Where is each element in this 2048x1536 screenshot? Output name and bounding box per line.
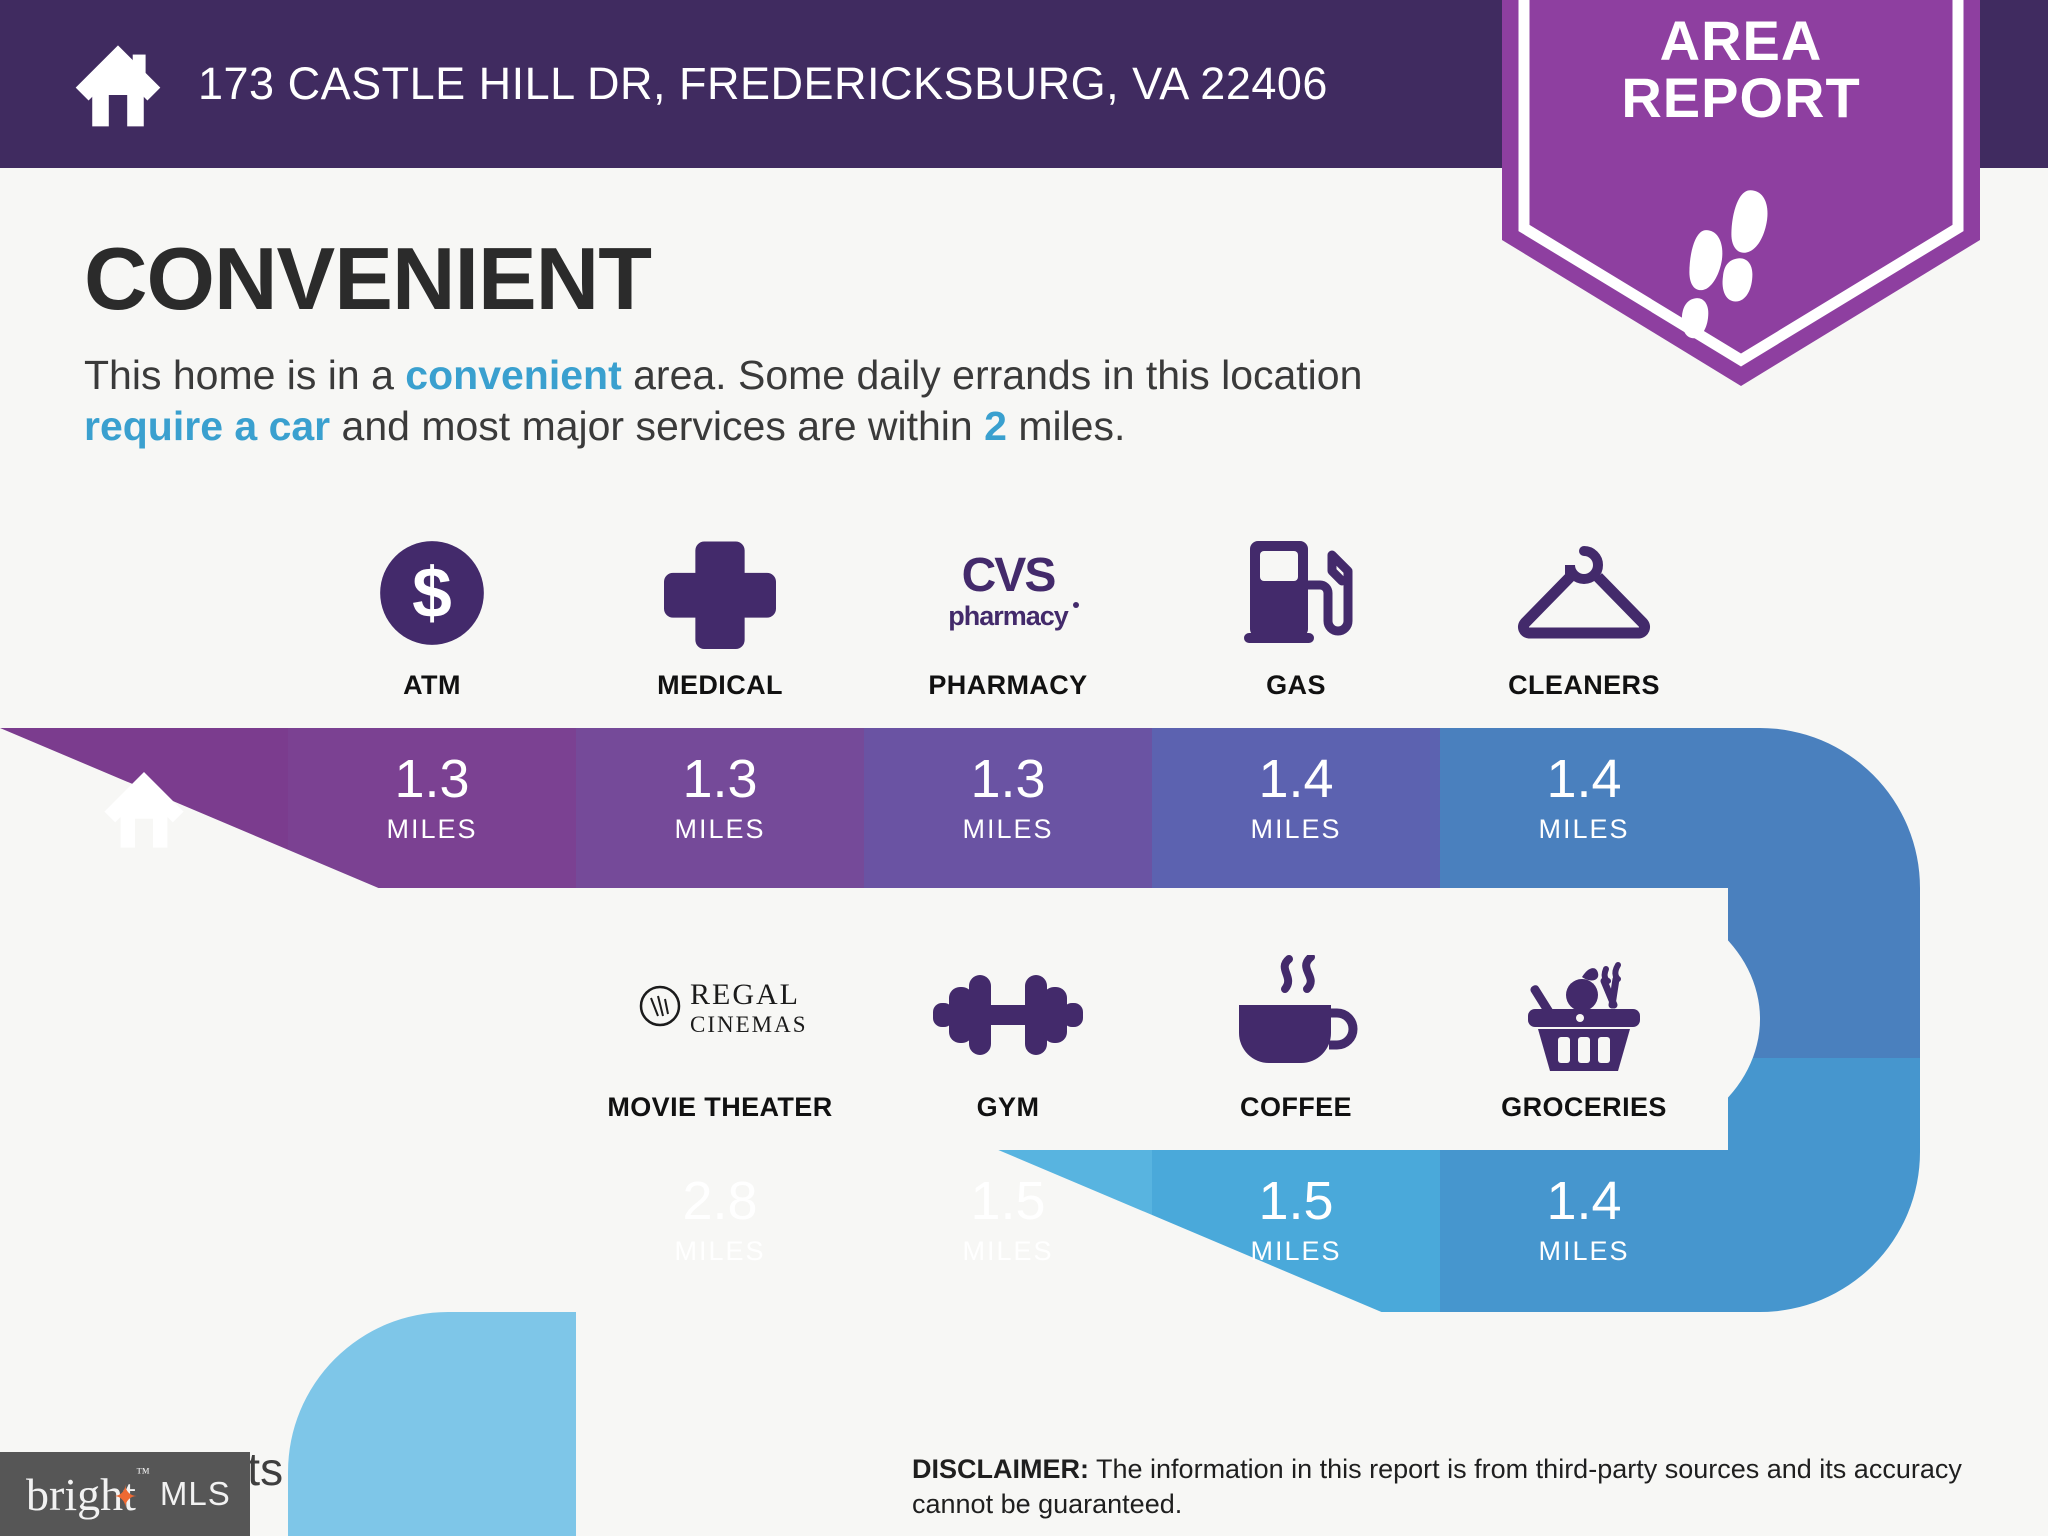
amenity-label: GAS — [1152, 670, 1440, 701]
blurb-highlight-miles: 2 — [984, 403, 1007, 449]
svg-text:CINEMAS: CINEMAS — [690, 1012, 806, 1037]
distance-pharmacy: 1.3 MILES — [864, 728, 1152, 888]
distance-movie-theater: 2.8 MILES — [576, 1150, 864, 1310]
summary-text: This home is in a convenient area. Some … — [84, 350, 1374, 452]
svg-text:$: $ — [412, 553, 452, 633]
amenity-atm: $ ATM — [288, 528, 576, 701]
blurb-mid-1: area. Some daily errands in this locatio… — [622, 352, 1363, 398]
amenity-gas: GAS — [1152, 528, 1440, 701]
page-title: CONVENIENT — [84, 228, 651, 330]
amenity-label: GYM — [864, 1092, 1152, 1123]
svg-text:pharmacy: pharmacy — [948, 601, 1069, 631]
distance-atm: 1.3 MILES — [288, 728, 576, 888]
distance-value: 1.3 — [576, 752, 864, 806]
svg-text:CVS: CVS — [962, 549, 1056, 602]
distance-unit: MILES — [1152, 1236, 1440, 1267]
distance-unit: MILES — [864, 814, 1152, 845]
badge-line-2: REPORT — [1502, 69, 1980, 126]
amenity-medical: MEDICAL — [576, 528, 864, 701]
distance-unit: MILES — [576, 814, 864, 845]
home-marker — [0, 728, 288, 888]
coffee-cup-icon — [1152, 950, 1440, 1080]
gas-pump-icon — [1152, 528, 1440, 658]
ribbon-elbow-right-lower — [1728, 1058, 2048, 1318]
amenity-row-top: $ ATM MEDICAL CVS pharmacy PHARMACY — [288, 528, 1728, 701]
distance-value: 2.8 — [576, 1174, 864, 1228]
amenity-label: ATM — [288, 670, 576, 701]
distance-row-bottom: 2.8 MILES 1.5 MILES 1.5 MILES 1.4 MILES — [576, 1150, 1728, 1310]
distance-value: 1.4 — [1440, 1174, 1728, 1228]
amenity-label: GROCERIES — [1440, 1092, 1728, 1123]
blurb-highlight-require-car: require a car — [84, 403, 330, 449]
distance-unit: MILES — [1440, 814, 1728, 845]
blurb-pre: This home is in a — [84, 352, 405, 398]
distance-value: 1.4 — [1440, 752, 1728, 806]
watermark-brand: bright✦™ — [26, 1468, 136, 1521]
amenity-movie-theater: REGAL CINEMAS MOVIE THEATER — [576, 950, 864, 1123]
cvs-pharmacy-logo: CVS pharmacy — [864, 528, 1152, 658]
distance-groceries: 1.4 MILES — [1440, 1150, 1728, 1310]
distance-value: 1.5 — [864, 1174, 1152, 1228]
distance-row-top: 1.3 MILES 1.3 MILES 1.3 MILES 1.4 MILES … — [288, 728, 1728, 888]
clothes-hanger-icon — [1440, 528, 1728, 658]
svg-text:REGAL: REGAL — [690, 978, 800, 1011]
amenity-label: PHARMACY — [864, 670, 1152, 701]
distance-unit: MILES — [1152, 814, 1440, 845]
watermark-mls: MLS — [160, 1475, 231, 1513]
distance-unit: MILES — [1440, 1236, 1728, 1267]
amenity-coffee: COFFEE — [1152, 950, 1440, 1123]
distance-value: 1.3 — [288, 752, 576, 806]
blurb-mid-2: and most major services are within — [330, 403, 984, 449]
badge-line-1: AREA — [1502, 12, 1980, 69]
grocery-basket-icon — [1440, 950, 1728, 1080]
distance-medical: 1.3 MILES — [576, 728, 864, 888]
amenity-row-bottom: REGAL CINEMAS MOVIE THEATER GYM — [576, 950, 1728, 1123]
disclaimer: DISCLAIMER: The information in this repo… — [912, 1452, 1992, 1522]
medical-cross-icon — [576, 528, 864, 658]
dumbbell-icon — [864, 950, 1152, 1080]
amenity-cleaners: CLEANERS — [1440, 528, 1728, 701]
bright-mls-watermark: bright✦™ MLS — [0, 1452, 250, 1536]
amenity-groceries: GROCERIES — [1440, 950, 1728, 1123]
amenity-pharmacy: CVS pharmacy PHARMACY — [864, 528, 1152, 701]
distance-unit: MILES — [288, 814, 576, 845]
disclaimer-label: DISCLAIMER: — [912, 1454, 1089, 1484]
area-report-badge: AREA REPORT — [1502, 0, 1980, 390]
distance-unit: MILES — [864, 1236, 1152, 1267]
distance-value: 1.3 — [864, 752, 1152, 806]
trademark-symbol: ™ — [136, 1466, 150, 1482]
amenity-label: MOVIE THEATER — [576, 1092, 864, 1123]
amenity-label: COFFEE — [1152, 1092, 1440, 1123]
distance-value: 1.4 — [1152, 752, 1440, 806]
blurb-highlight-convenient: convenient — [405, 352, 621, 398]
ribbon-left-gap — [0, 888, 320, 1150]
amenity-label: MEDICAL — [576, 670, 864, 701]
ribbon-elbow-left-lower — [288, 1150, 576, 1536]
distance-coffee: 1.5 MILES — [1152, 1150, 1440, 1310]
distance-cleaners: 1.4 MILES — [1440, 728, 1728, 888]
property-address: 173 CASTLE HILL DR, FREDERICKSBURG, VA 2… — [198, 58, 1328, 110]
distance-gym: 1.5 MILES — [864, 1150, 1152, 1310]
ribbon-elbow-right-upper — [1728, 728, 2048, 1058]
distance-value: 1.5 — [1152, 1174, 1440, 1228]
dollar-coin-icon: $ — [288, 528, 576, 658]
blurb-end: miles. — [1007, 403, 1125, 449]
regal-cinemas-logo: REGAL CINEMAS — [576, 950, 864, 1080]
distance-unit: MILES — [576, 1236, 864, 1267]
amenity-label: CLEANERS — [1440, 670, 1728, 701]
spark-icon: ✦ — [113, 1480, 138, 1515]
distance-gas: 1.4 MILES — [1152, 728, 1440, 888]
home-icon — [72, 38, 164, 130]
amenity-gym: GYM — [864, 950, 1152, 1123]
badge-text: AREA REPORT — [1502, 12, 1980, 126]
